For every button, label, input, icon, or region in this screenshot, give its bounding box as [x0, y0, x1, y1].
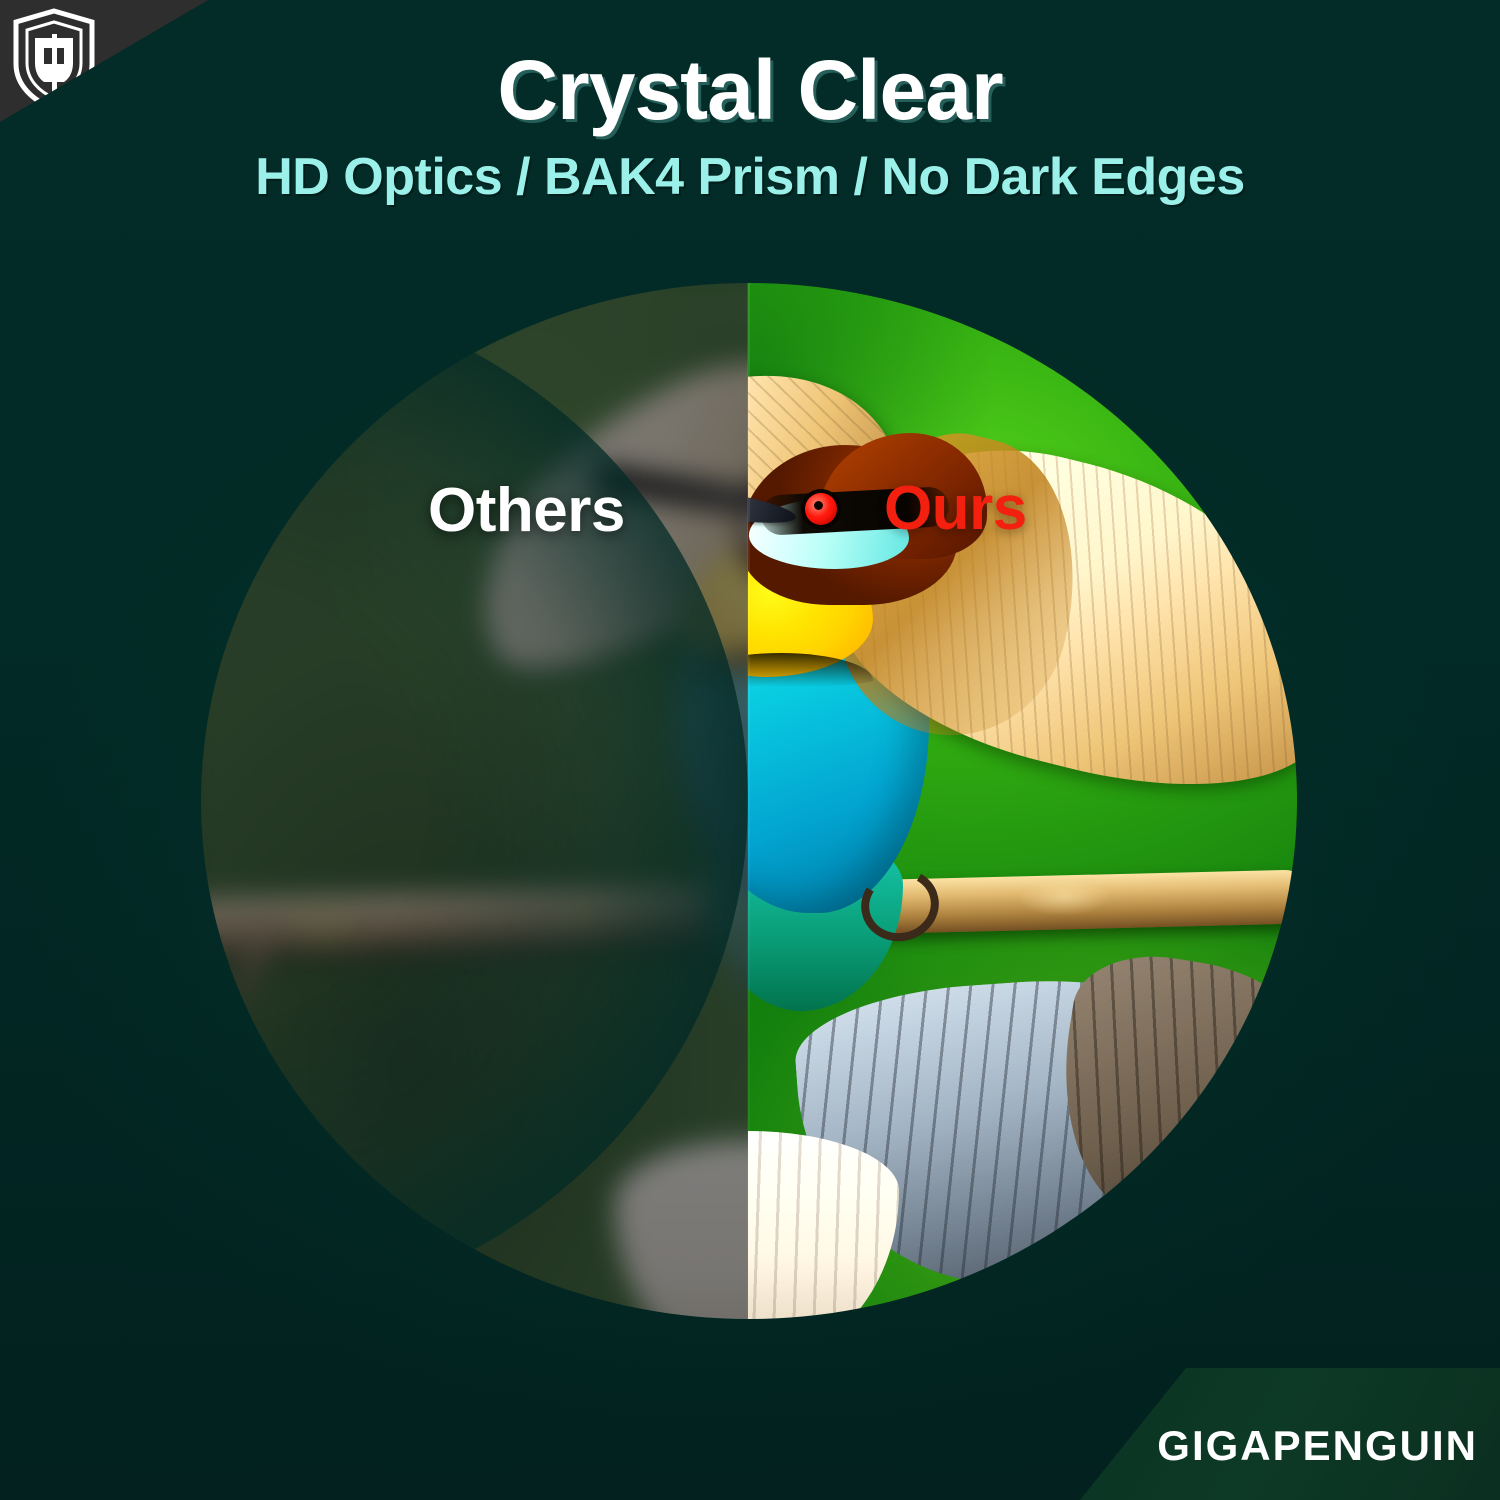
product-infographic: Crystal Clear HD Optics / BAK4 Prism / N…	[0, 0, 1500, 1500]
comparison-half-others	[201, 283, 748, 1319]
bird-eye	[805, 493, 837, 525]
sharp-photo	[748, 283, 1297, 1319]
brand-name: GIGAPENGUIN	[1157, 1422, 1478, 1470]
label-others: Others	[428, 480, 625, 542]
label-ours: Ours	[884, 478, 1027, 540]
comparison-half-ours	[748, 283, 1297, 1319]
comparison-divider	[747, 283, 750, 1319]
comparison-circle	[201, 283, 1297, 1319]
